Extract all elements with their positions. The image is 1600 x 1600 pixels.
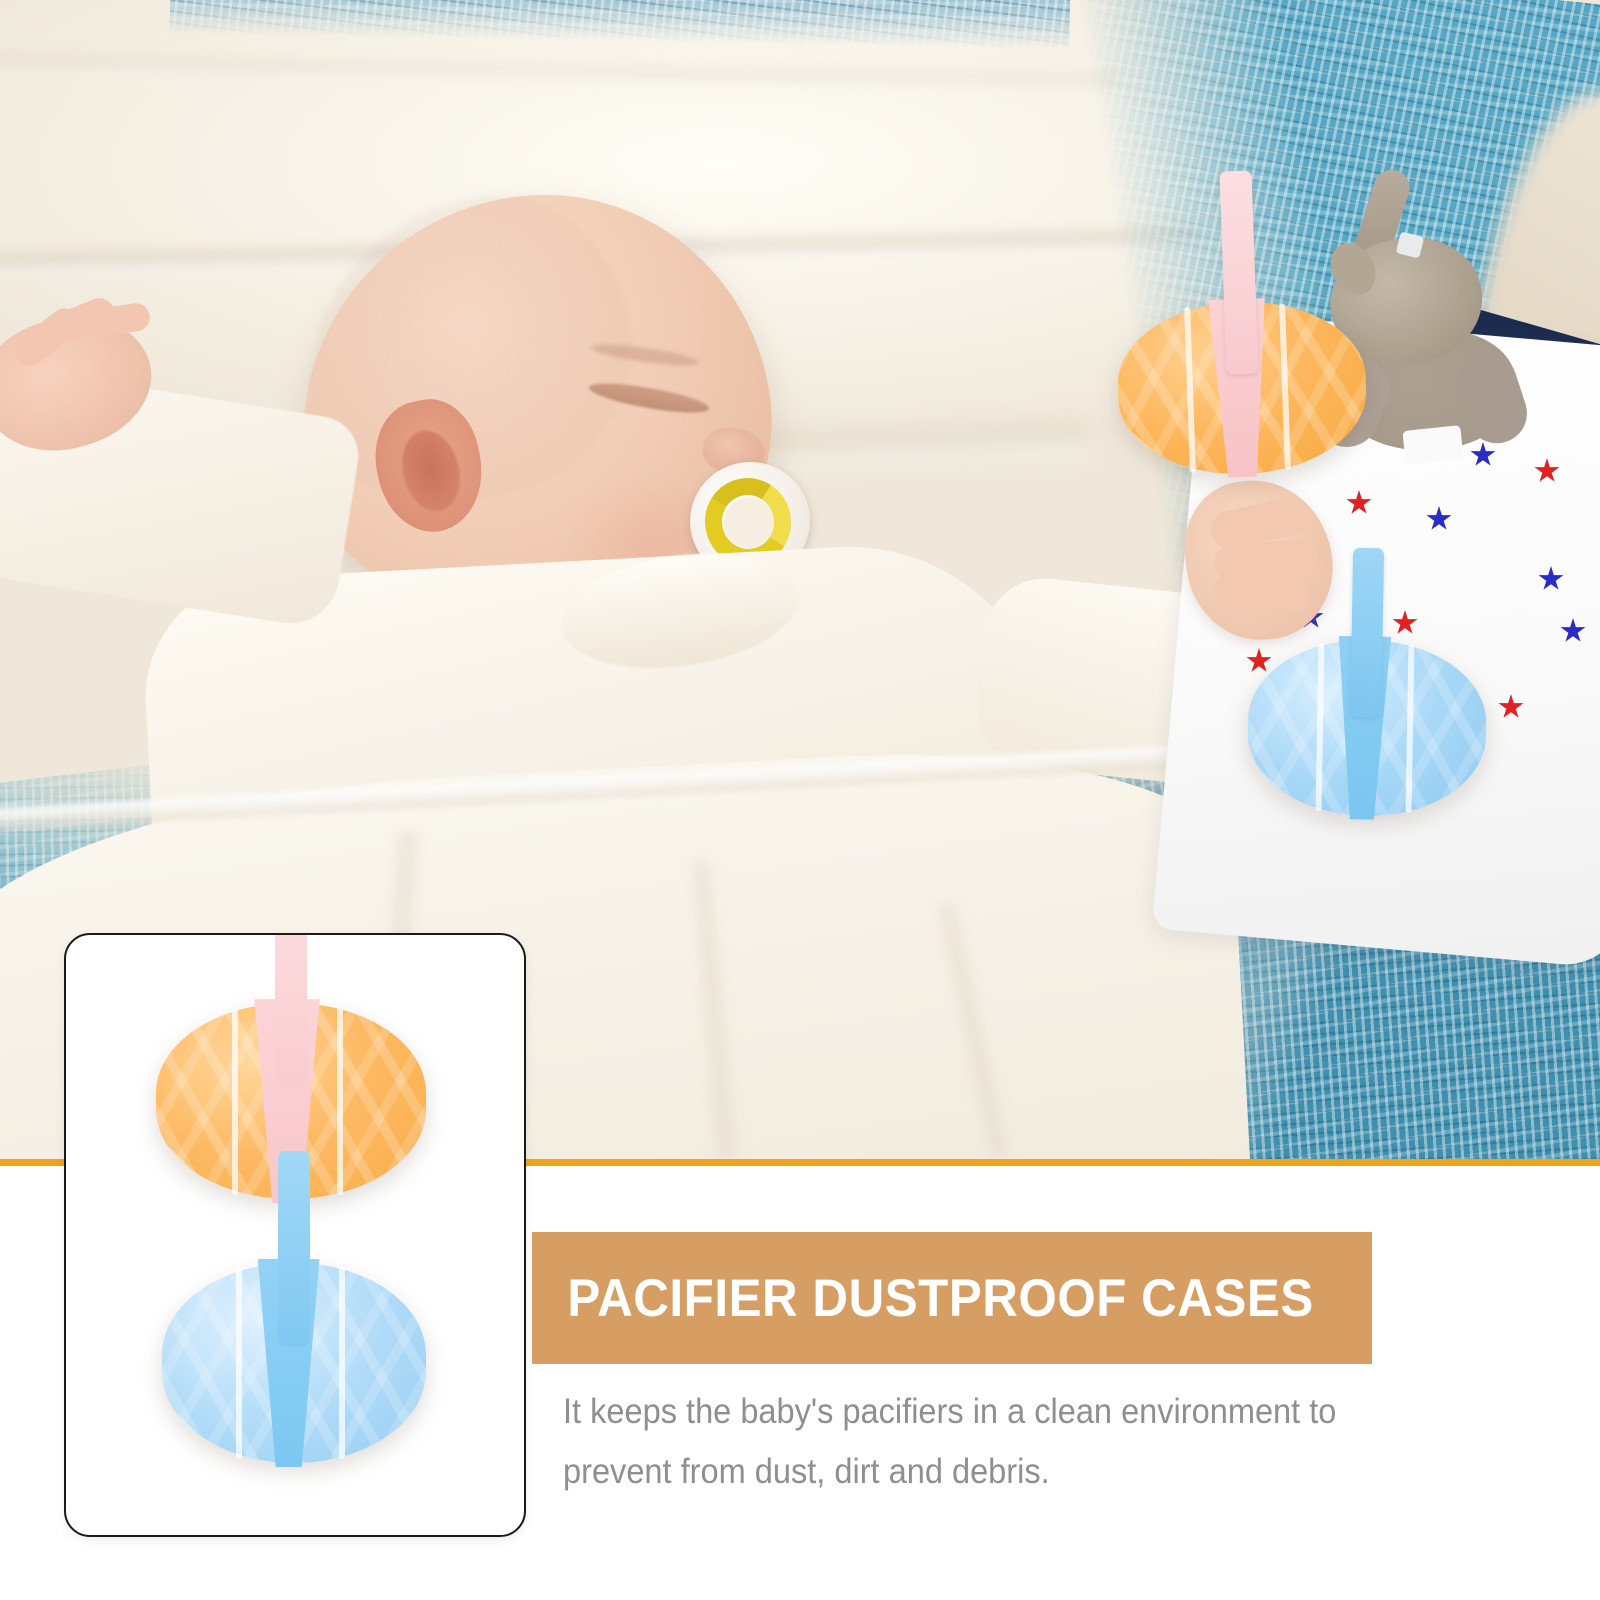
case-seam [339,1267,345,1459]
baby-finger [1213,573,1311,614]
product-detail-card [64,933,526,1537]
blue-pacifier-case-photo [1246,638,1487,818]
product-infographic-page: PACIFIER DUSTPROOF CASES It keeps the ba… [0,0,1600,1600]
title-banner: PACIFIER DUSTPROOF CASES [532,1232,1372,1364]
case-seam [232,1007,238,1195]
case-seam [337,1007,343,1195]
case-clip-tab [1351,548,1385,717]
description-text: It keeps the baby's pacifiers in a clean… [563,1382,1428,1502]
page-title: PACIFIER DUSTPROOF CASES [532,1268,1314,1329]
orange-pacifier-case-photo [1115,298,1369,479]
bunny-label-tag [1402,425,1463,465]
blue-pacifier-case-detail [162,1263,426,1463]
case-clip-tab [275,933,307,1085]
case-seam [236,1267,242,1459]
case-clip-tab [278,1151,310,1347]
